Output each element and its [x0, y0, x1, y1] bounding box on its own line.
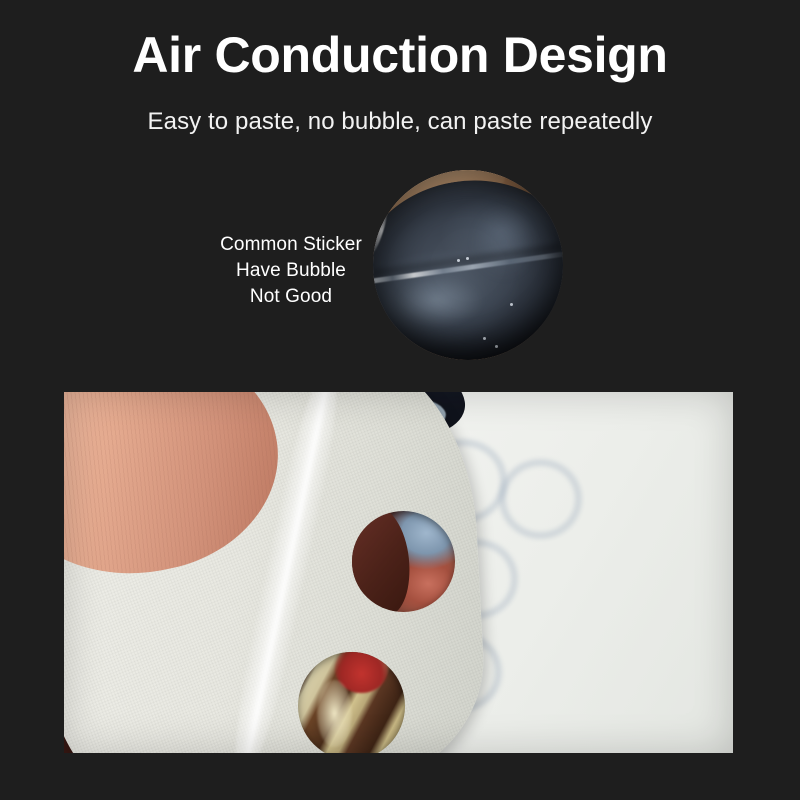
common-sticker-circle-photo [373, 170, 563, 360]
caption-line-1: Common Sticker [196, 232, 386, 258]
product-feature-poster: Air Conduction Design Easy to paste, no … [0, 0, 800, 800]
cutout-cream-region [317, 680, 351, 747]
page-subtitle: Easy to paste, no bubble, can paste repe… [0, 108, 800, 137]
cutout-flap-upper [352, 511, 416, 612]
patch-cutout-hole-lower [298, 652, 405, 753]
caption-line-3: Not Good [196, 284, 386, 310]
patch-cutout-hole-upper [352, 511, 456, 612]
caption-line-2: Have Bubble [196, 258, 386, 284]
page-title: Air Conduction Design [0, 28, 800, 83]
sticker-vignette [373, 170, 563, 360]
comparison-caption: Common Sticker Have Bubble Not Good [196, 232, 386, 310]
air-conduction-patch-photo [64, 392, 733, 753]
